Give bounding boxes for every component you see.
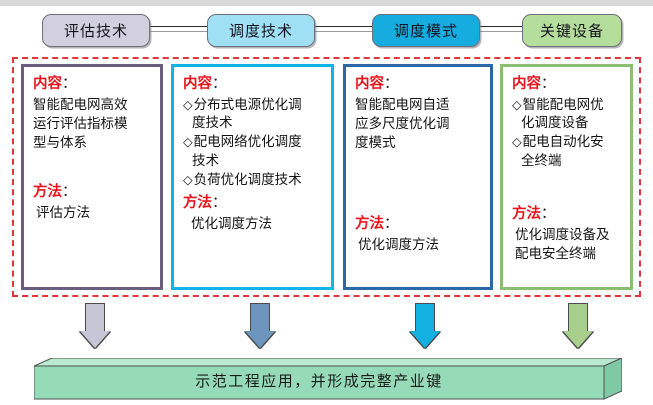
content-heading: 内容： (355, 75, 484, 95)
content-heading: 内容： (183, 75, 325, 95)
arrow-shaft (415, 303, 435, 331)
method-body-line-2: 配电安全终端 (512, 245, 624, 264)
content-body: 智能配电网高效 运行评估指标模 型与体系 (33, 96, 154, 153)
header-box-label: 调度技术 (229, 20, 293, 41)
header-box-label: 调度模式 (394, 20, 458, 41)
method-heading: 方法： (512, 205, 624, 225)
list-item-continuation: 化调度设备 (512, 114, 624, 133)
method-body: 优化调度方法 (183, 215, 325, 234)
method-heading: 方法： (33, 183, 154, 203)
arrow-head (563, 331, 593, 348)
down-arrow-assessment (80, 303, 110, 348)
diamond-bullet-icon: ◇ (183, 171, 193, 190)
bullet-indent-spacer (183, 152, 191, 171)
content-bullet-list: ◇ 智能配电网优 化调度设备 ◇ 配电自动化安 全终端 (512, 96, 624, 172)
arrow-shaft (85, 303, 105, 331)
content-panel-key-equipment[interactable]: 内容： ◇ 智能配电网优 化调度设备 ◇ 配电自动化安 全终端 方法： 优化调度… (500, 64, 633, 290)
arrow-head (80, 331, 110, 348)
content-heading: 内容： (512, 75, 624, 95)
header-box-label: 评估技术 (64, 20, 128, 41)
method-section: 方法： 优化调度设备及 配电安全终端 (512, 205, 624, 264)
method-section: 方法： 优化调度方法 (355, 215, 484, 255)
list-item-continuation: 技术 (183, 152, 325, 171)
list-item-continuation: 全终端 (512, 152, 624, 171)
bullet-indent-spacer (512, 114, 520, 133)
arrow-head (410, 331, 440, 348)
arrow-head (245, 331, 275, 348)
method-heading: 方法： (355, 215, 484, 235)
header-box-assessment-technology[interactable]: 评估技术 (42, 14, 150, 47)
header-box-dispatch-technology[interactable]: 调度技术 (207, 14, 315, 47)
top-strip (0, 0, 653, 6)
list-item: ◇ 配电自动化安 (512, 133, 624, 152)
footer-label: 示范工程应用，并形成完整产业键 (34, 370, 604, 391)
connector-line-1 (148, 26, 210, 33)
method-section: 方法： 评估方法 (33, 183, 154, 223)
list-item: ◇ 分布式电源优化调 (183, 96, 325, 115)
connector-line-3 (478, 26, 525, 33)
header-box-label: 关键设备 (540, 20, 604, 41)
content-heading: 内容： (33, 75, 154, 95)
down-arrow-dispatch-technology (245, 303, 275, 348)
bullet-indent-spacer (183, 114, 191, 133)
method-heading: 方法： (183, 194, 325, 214)
method-body: 评估方法 (33, 204, 154, 223)
connector-line-2 (313, 26, 375, 33)
header-box-key-equipment[interactable]: 关键设备 (522, 14, 622, 47)
header-box-dispatch-mode[interactable]: 调度模式 (372, 14, 480, 47)
footer-slab: 示范工程应用，并形成完整产业键 (34, 358, 622, 400)
diamond-bullet-icon: ◇ (183, 96, 193, 115)
bullet-indent-spacer (512, 152, 520, 171)
diamond-bullet-icon: ◇ (183, 133, 193, 152)
down-arrow-dispatch-mode (410, 303, 440, 348)
down-arrow-key-equipment (563, 303, 593, 348)
content-panel-assessment[interactable]: 内容： 智能配电网高效 运行评估指标模 型与体系 方法： 评估方法 (21, 64, 163, 290)
arrow-shaft (250, 303, 270, 331)
content-panel-dispatch-technology[interactable]: 内容： ◇ 分布式电源优化调 度技术 ◇ 配电网络优化调度 技术 ◇ 负荷优化调… (171, 64, 334, 290)
content-bullet-list: ◇ 分布式电源优化调 度技术 ◇ 配电网络优化调度 技术 ◇ 负荷优化调度技术 (183, 96, 325, 190)
content-panel-dispatch-mode[interactable]: 内容： 智能配电网自适 应多尺度优化调 度模式 方法： 优化调度方法 (343, 64, 493, 290)
content-body: 智能配电网自适 应多尺度优化调 度模式 (355, 96, 484, 153)
list-item: ◇ 智能配电网优 (512, 96, 624, 115)
list-item: ◇ 负荷优化调度技术 (183, 171, 325, 190)
list-item: ◇ 配电网络优化调度 (183, 133, 325, 152)
method-section: 方法： 优化调度方法 (183, 194, 325, 234)
method-body: 优化调度设备及 (512, 226, 624, 245)
list-item-continuation: 度技术 (183, 114, 325, 133)
diagram-canvas: 评估技术 调度技术 调度模式 关键设备 内容： 智能配电网高效 运行评估指标模 … (0, 0, 653, 405)
arrow-shaft (568, 303, 588, 331)
method-body: 优化调度方法 (355, 236, 484, 255)
diamond-bullet-icon: ◇ (512, 96, 522, 115)
diamond-bullet-icon: ◇ (512, 133, 522, 152)
